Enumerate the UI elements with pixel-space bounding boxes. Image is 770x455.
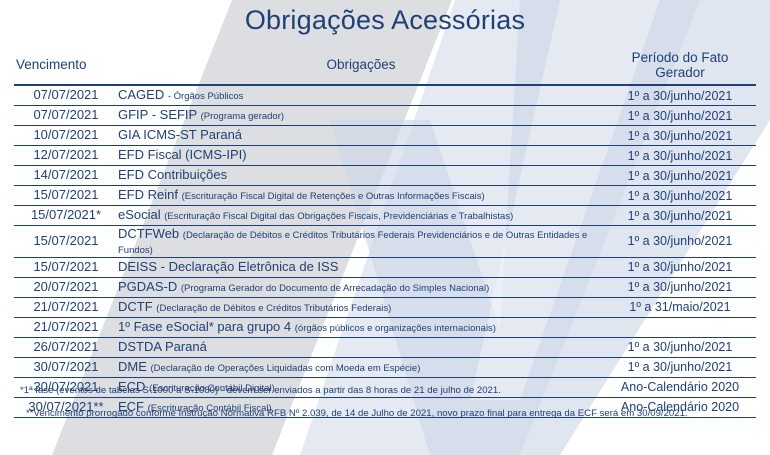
cell-obrigacao: CAGED - Órgãos Públicos xyxy=(118,85,604,106)
page-title: Obrigações Acessórias xyxy=(0,6,770,36)
cell-obrigacao: DCTF (Declaração de Débitos e Créditos T… xyxy=(118,297,604,317)
column-header-periodo-line2: Gerador xyxy=(604,65,756,80)
cell-obrigacao: eSocial (Escrituração Fiscal Digital das… xyxy=(118,206,604,226)
cell-obrigacao: DSTDA Paraná xyxy=(118,337,604,357)
obrigacao-descricao: (Programa Gerador do Documento de Arreca… xyxy=(181,283,489,294)
cell-vencimento: 07/07/2021 xyxy=(14,85,118,106)
obrigacao-sigla: DSTDA Paraná xyxy=(118,339,207,354)
cell-periodo xyxy=(604,317,756,337)
obrigacao-sigla: DCTF xyxy=(118,299,153,314)
cell-periodo: 1º a 30/junho/2021 xyxy=(604,257,756,277)
cell-vencimento: 30/07/2021 xyxy=(14,357,118,377)
cell-obrigacao: EFD Reinf (Escrituração Fiscal Digital d… xyxy=(118,186,604,206)
cell-periodo: 1º a 30/junho/2021 xyxy=(604,186,756,206)
obrigacao-sigla: DEISS - Declaração Eletrônica de ISS xyxy=(118,259,338,274)
table-row: 21/07/2021DCTF (Declaração de Débitos e … xyxy=(14,297,756,317)
cell-obrigacao: EFD Fiscal (ICMS-IPI) xyxy=(118,146,604,166)
cell-vencimento: 20/07/2021 xyxy=(14,277,118,297)
obrigacao-sigla: DCTFWeb xyxy=(118,226,179,241)
table-row: 30/07/2021DME (Declaração de Operações L… xyxy=(14,357,756,377)
table-row: 12/07/2021EFD Fiscal (ICMS-IPI) 1º a 30/… xyxy=(14,146,756,166)
cell-vencimento: 21/07/2021 xyxy=(14,297,118,317)
table-body: 07/07/2021CAGED - Órgãos Públicos1º a 30… xyxy=(14,85,756,417)
table-row: 21/07/20211º Fase eSocial* para grupo 4 … xyxy=(14,317,756,337)
obrigacao-descricao: (Declaração de Débitos e Créditos Tribut… xyxy=(118,230,587,256)
obrigacao-descricao: (Escrituração Fiscal Digital de Retençõe… xyxy=(182,191,485,202)
obrigacao-sigla: EFD Contribuições xyxy=(118,167,227,182)
obrigacao-descricao: (Declaração de Débitos e Créditos Tribut… xyxy=(156,303,391,314)
cell-periodo: 1º a 30/junho/2021 xyxy=(604,206,756,226)
obrigacao-descricao: - Órgãos Públicos xyxy=(168,91,244,102)
column-header-vencimento: Vencimento xyxy=(14,46,118,85)
obrigacao-sigla: 1º Fase eSocial* para grupo 4 xyxy=(118,319,291,334)
cell-obrigacao: DME (Declaração de Operações Liquidadas … xyxy=(118,357,604,377)
obligations-calendar-page: Obrigações Acessórias Vencimento Obrigaç… xyxy=(0,0,770,455)
table-row: 26/07/2021DSTDA Paraná 1º a 30/junho/202… xyxy=(14,337,756,357)
cell-periodo: 1º a 30/junho/2021 xyxy=(604,85,756,106)
cell-periodo: 1º a 30/junho/2021 xyxy=(604,106,756,126)
table-row: 20/07/2021PGDAS-D (Programa Gerador do D… xyxy=(14,277,756,297)
table-row: 07/07/2021CAGED - Órgãos Públicos1º a 30… xyxy=(14,85,756,106)
obrigacao-sigla: eSocial xyxy=(118,207,161,222)
cell-vencimento: 26/07/2021 xyxy=(14,337,118,357)
obrigacao-descricao: (Declaração de Operações Liquidadas com … xyxy=(151,363,421,374)
table-row: 10/07/2021GIA ICMS-ST Paraná 1º a 30/jun… xyxy=(14,126,756,146)
cell-periodo: 1º a 30/junho/2021 xyxy=(604,226,756,258)
cell-obrigacao: DCTFWeb (Declaração de Débitos e Crédito… xyxy=(118,226,604,258)
table-header-row: Vencimento Obrigações Período do Fato Ge… xyxy=(14,46,756,85)
cell-obrigacao: GIA ICMS-ST Paraná xyxy=(118,126,604,146)
obrigacao-sigla: CAGED xyxy=(118,87,164,102)
cell-periodo: 1º a 30/junho/2021 xyxy=(604,357,756,377)
cell-obrigacao: GFIP - SEFIP (Programa gerador) xyxy=(118,106,604,126)
obrigacao-descricao: (órgãos públicos e organizações internac… xyxy=(295,323,496,334)
column-header-periodo: Período do Fato Gerador xyxy=(604,46,756,85)
table-row: 15/07/2021*eSocial (Escrituração Fiscal … xyxy=(14,206,756,226)
obrigacao-sigla: EFD Reinf xyxy=(118,187,178,202)
cell-obrigacao: PGDAS-D (Programa Gerador do Documento d… xyxy=(118,277,604,297)
cell-vencimento: 15/07/2021* xyxy=(14,206,118,226)
cell-vencimento: 15/07/2021 xyxy=(14,186,118,206)
cell-vencimento: 21/07/2021 xyxy=(14,317,118,337)
footnotes: *1ª fase (eventos de tabelas S-1000 a S-… xyxy=(20,385,760,432)
footnote-2: **Vencimento prorrogado conforme Instruç… xyxy=(20,408,760,420)
cell-vencimento: 15/07/2021 xyxy=(14,226,118,258)
cell-vencimento: 12/07/2021 xyxy=(14,146,118,166)
table-row: 15/07/2021DCTFWeb (Declaração de Débitos… xyxy=(14,226,756,258)
table-row: 15/07/2021DEISS - Declaração Eletrônica … xyxy=(14,257,756,277)
cell-vencimento: 15/07/2021 xyxy=(14,257,118,277)
cell-periodo: 1º a 30/junho/2021 xyxy=(604,126,756,146)
cell-periodo: 1º a 30/junho/2021 xyxy=(604,166,756,186)
obrigacao-sigla: PGDAS-D xyxy=(118,279,177,294)
cell-obrigacao: 1º Fase eSocial* para grupo 4 (órgãos pú… xyxy=(118,317,604,337)
footnote-1: *1ª fase (eventos de tabelas S-1000 a S-… xyxy=(20,385,760,397)
table-row: 15/07/2021EFD Reinf (Escrituração Fiscal… xyxy=(14,186,756,206)
cell-obrigacao: DEISS - Declaração Eletrônica de ISS xyxy=(118,257,604,277)
obrigacao-descricao: (Escrituração Fiscal Digital das Obrigaç… xyxy=(164,211,513,222)
cell-vencimento: 07/07/2021 xyxy=(14,106,118,126)
column-header-obrigacoes: Obrigações xyxy=(118,46,604,85)
obrigacao-sigla: EFD Fiscal (ICMS-IPI) xyxy=(118,147,247,162)
cell-periodo: 1º a 31/maio/2021 xyxy=(604,297,756,317)
obrigacao-descricao: (Programa gerador) xyxy=(201,111,284,122)
cell-vencimento: 14/07/2021 xyxy=(14,166,118,186)
obligations-table: Vencimento Obrigações Período do Fato Ge… xyxy=(14,46,756,418)
table-row: 14/07/2021EFD Contribuições 1º a 30/junh… xyxy=(14,166,756,186)
obrigacao-sigla: GFIP - SEFIP xyxy=(118,107,197,122)
cell-vencimento: 10/07/2021 xyxy=(14,126,118,146)
cell-obrigacao: EFD Contribuições xyxy=(118,166,604,186)
cell-periodo: 1º a 30/junho/2021 xyxy=(604,337,756,357)
obrigacao-sigla: GIA ICMS-ST Paraná xyxy=(118,127,242,142)
column-header-periodo-line1: Período do Fato xyxy=(604,50,756,65)
table-row: 07/07/2021GFIP - SEFIP (Programa gerador… xyxy=(14,106,756,126)
cell-periodo: 1º a 30/junho/2021 xyxy=(604,277,756,297)
cell-periodo: 1º a 30/junho/2021 xyxy=(604,146,756,166)
obrigacao-sigla: DME xyxy=(118,359,147,374)
